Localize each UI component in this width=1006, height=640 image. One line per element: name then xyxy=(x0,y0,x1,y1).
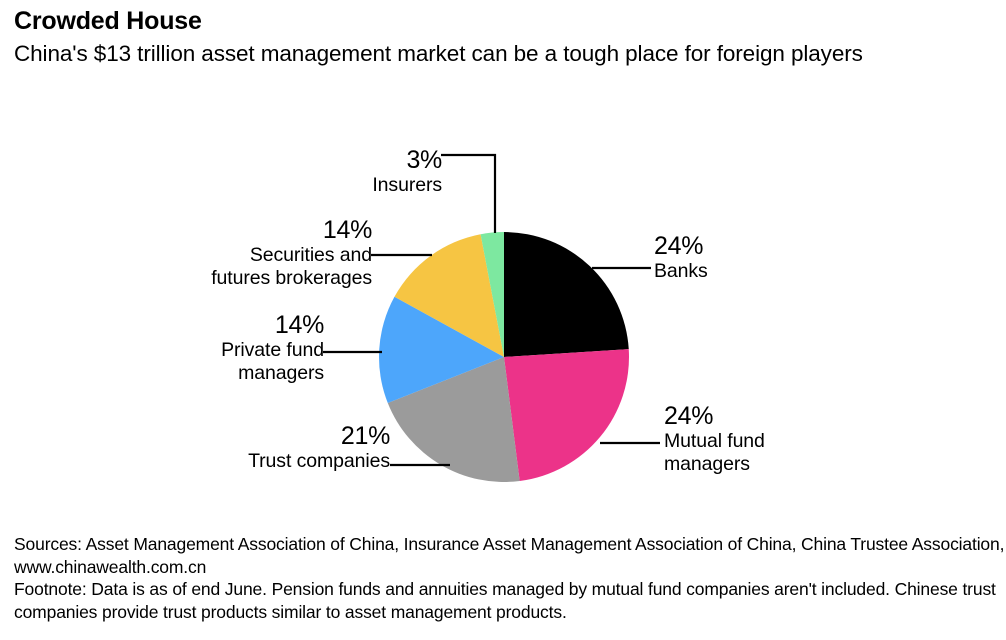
slice-name-banks: Banks xyxy=(654,260,904,283)
slice-name-securities-line2: futures brokerages xyxy=(110,267,372,290)
slice-label-insurers: 3% Insurers xyxy=(232,146,442,197)
slice-value-insurers: 3% xyxy=(232,146,442,174)
slice-label-banks: 24% Banks xyxy=(654,232,904,283)
slice-value-private-fund: 14% xyxy=(110,311,324,339)
slice-label-securities: 14% Securities and futures brokerages xyxy=(110,216,372,290)
slice-label-mutual-fund: 24% Mutual fund managers xyxy=(664,402,924,476)
slice-name-private-fund-line1: Private fund xyxy=(110,339,324,362)
slice-label-trust: 21% Trust companies xyxy=(90,422,390,473)
slice-name-insurers: Insurers xyxy=(232,174,442,197)
slice-name-mutual-fund-line2: managers xyxy=(664,453,924,476)
slice-label-private-fund: 14% Private fund managers xyxy=(110,311,324,385)
page-title: Crowded House xyxy=(14,6,999,37)
slice-value-securities: 14% xyxy=(110,216,372,244)
slice-name-trust: Trust companies xyxy=(90,450,390,473)
slice-name-private-fund-line2: managers xyxy=(110,362,324,385)
pie-slice-banks xyxy=(504,232,629,357)
footnote-text: Footnote: Data is as of end June. Pensio… xyxy=(14,578,1006,623)
slice-value-trust: 21% xyxy=(90,422,390,450)
pie-slice-mutual-fund-managers xyxy=(504,349,629,481)
chart-plot-area: 3% Insurers 14% Securities and futures b… xyxy=(0,112,1006,522)
pie-slice-group xyxy=(379,232,629,482)
sources-text: Sources: Asset Management Association of… xyxy=(14,533,1006,578)
slice-value-banks: 24% xyxy=(654,232,904,260)
chart-subtitle: China's $13 trillion asset management ma… xyxy=(14,40,999,68)
leader-line-insurers xyxy=(441,155,495,233)
chart-header: Crowded House China's $13 trillion asset… xyxy=(14,6,999,68)
chart-footer: Sources: Asset Management Association of… xyxy=(14,533,1006,623)
slice-name-mutual-fund-line1: Mutual fund xyxy=(664,430,924,453)
slice-value-mutual-fund: 24% xyxy=(664,402,924,430)
slice-name-securities-line1: Securities and xyxy=(110,244,372,267)
